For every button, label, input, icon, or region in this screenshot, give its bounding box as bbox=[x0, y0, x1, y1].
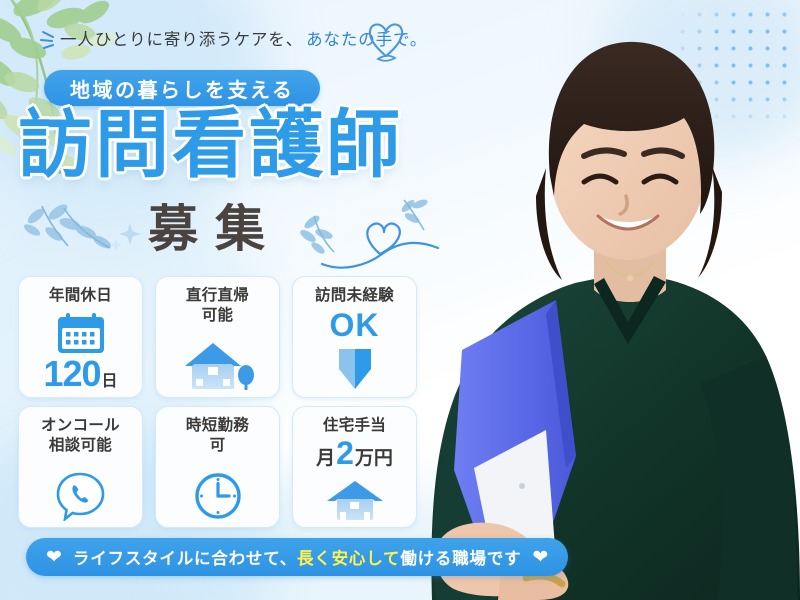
sparkle-icon bbox=[108, 220, 142, 254]
card-title: 直行直帰 可能 bbox=[186, 286, 249, 326]
card-housing-allowance[interactable]: 住宅手当 月 2 万円 bbox=[292, 406, 417, 528]
card-value-highlight: 月 2 万円 bbox=[316, 437, 393, 470]
card-icon-wrap bbox=[293, 347, 416, 391]
card-value-highlight: 120 日 bbox=[43, 356, 117, 392]
heart-swoosh-line-icon bbox=[318, 214, 442, 270]
house-icon bbox=[325, 479, 385, 521]
calendar-icon bbox=[55, 311, 107, 355]
footer-text: ライフスタイルに合わせて、長く安心して働ける職場です bbox=[73, 545, 522, 569]
beginner-mark-icon bbox=[337, 347, 373, 391]
footer-text-highlight: 長く安心して bbox=[297, 550, 400, 568]
page-title: 訪問看護師 bbox=[18, 108, 403, 182]
card-short-hours[interactable]: 時短勤務 可 bbox=[155, 406, 280, 528]
card-title: 時短勤務 可 bbox=[186, 416, 249, 456]
badge-pill: 地域の暮らしを支える bbox=[44, 70, 320, 106]
card-value: OK bbox=[330, 309, 380, 341]
subtitle-row: 募集 bbox=[0, 196, 440, 266]
banner-root: 一人ひとりに寄り添うケアを、 あなたの手で。 地域の暮らしを支える 訪問看護師 bbox=[0, 0, 800, 600]
page-subtitle: 募集 bbox=[148, 198, 282, 261]
card-icon-wrap bbox=[19, 471, 142, 521]
heart-icon: ❤ bbox=[532, 548, 548, 567]
sparkle-icon bbox=[40, 28, 62, 52]
feature-cards-row-bottom: オンコール 相談可能 時短勤務 可 bbox=[18, 406, 418, 528]
feature-cards: 年間休日 120 日 bbox=[18, 276, 418, 536]
card-icon-wrap bbox=[156, 339, 279, 391]
card-title: オンコール 相談可能 bbox=[41, 416, 120, 456]
heart-outline-icon bbox=[366, 18, 406, 62]
card-title: 住宅手当 bbox=[323, 416, 386, 436]
feature-cards-row-top: 年間休日 120 日 bbox=[18, 276, 418, 398]
card-title: 訪問未経験 bbox=[315, 286, 394, 306]
card-annual-holidays[interactable]: 年間休日 120 日 bbox=[18, 276, 143, 398]
footer-banner: ❤ ライフスタイルに合わせて、長く安心して働ける職場です ❤ bbox=[26, 538, 568, 576]
card-icon-wrap bbox=[156, 471, 279, 521]
nurse-photo bbox=[370, 0, 800, 600]
footer-text-b: 働ける職場です bbox=[400, 550, 521, 568]
phone-bubble-icon bbox=[55, 471, 107, 521]
heart-icon: ❤ bbox=[46, 548, 62, 567]
footer-text-a: ライフスタイルに合わせて、 bbox=[73, 550, 297, 568]
card-title: 年間休日 bbox=[49, 286, 112, 306]
card-icon-wrap bbox=[293, 479, 416, 521]
card-oncall-consult[interactable]: オンコール 相談可能 bbox=[18, 406, 143, 528]
card-value: 月 2 万円 bbox=[316, 437, 393, 470]
card-direct-commute[interactable]: 直行直帰 可能 bbox=[155, 276, 280, 398]
card-no-experience-ok[interactable]: 訪問未経験 OK bbox=[292, 276, 417, 398]
house-tree-icon bbox=[181, 339, 255, 391]
clock-icon bbox=[193, 471, 243, 521]
tagline-dark: 一人ひとりに寄り添うケアを、 bbox=[60, 26, 303, 50]
card-value: 120 日 bbox=[19, 356, 142, 392]
